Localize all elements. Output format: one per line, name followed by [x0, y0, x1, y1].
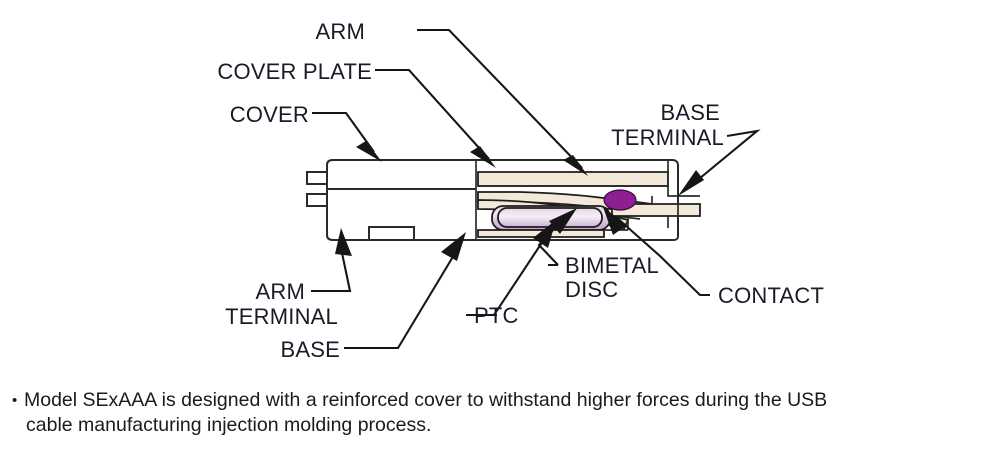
caption-line-2: cable manufacturing injection molding pr…	[12, 413, 992, 438]
bullet-icon: •	[12, 388, 24, 413]
caption-text-1: Model SExAAA is designed with a reinforc…	[24, 389, 827, 411]
label-bimetal-disc-line2: DISC	[565, 277, 618, 302]
label-base: BASE	[281, 337, 341, 362]
arm-terminal-part	[307, 172, 328, 206]
contact-part	[604, 190, 636, 210]
leader-cover	[312, 113, 382, 162]
leader-base	[344, 232, 466, 348]
label-contact: CONTACT	[718, 283, 824, 308]
caption-line-1: •Model SExAAA is designed with a reinfor…	[12, 388, 992, 413]
label-cover-plate: COVER PLATE	[217, 59, 372, 84]
label-base-terminal-line1: BASE	[661, 100, 721, 125]
figure-root: ARM COVER PLATE COVER BASE TERMINAL ARM …	[0, 0, 1001, 461]
leader-arm	[417, 30, 588, 176]
label-bimetal-disc-line1: BIMETAL	[565, 253, 659, 278]
section-cut-interior	[476, 160, 700, 240]
label-arm-terminal-line2: TERMINAL	[225, 304, 338, 329]
cover-plate-part	[478, 172, 668, 186]
label-cover: COVER	[230, 102, 309, 127]
label-ptc: PTC	[474, 303, 519, 328]
caption-block: •Model SExAAA is designed with a reinfor…	[12, 388, 992, 438]
leader-cover-plate	[375, 70, 496, 168]
device-cutaway-body	[307, 160, 700, 240]
label-base-terminal-line2: TERMINAL	[611, 125, 724, 150]
label-arm-terminal-line1: ARM	[256, 279, 306, 304]
label-arm: ARM	[316, 19, 366, 44]
